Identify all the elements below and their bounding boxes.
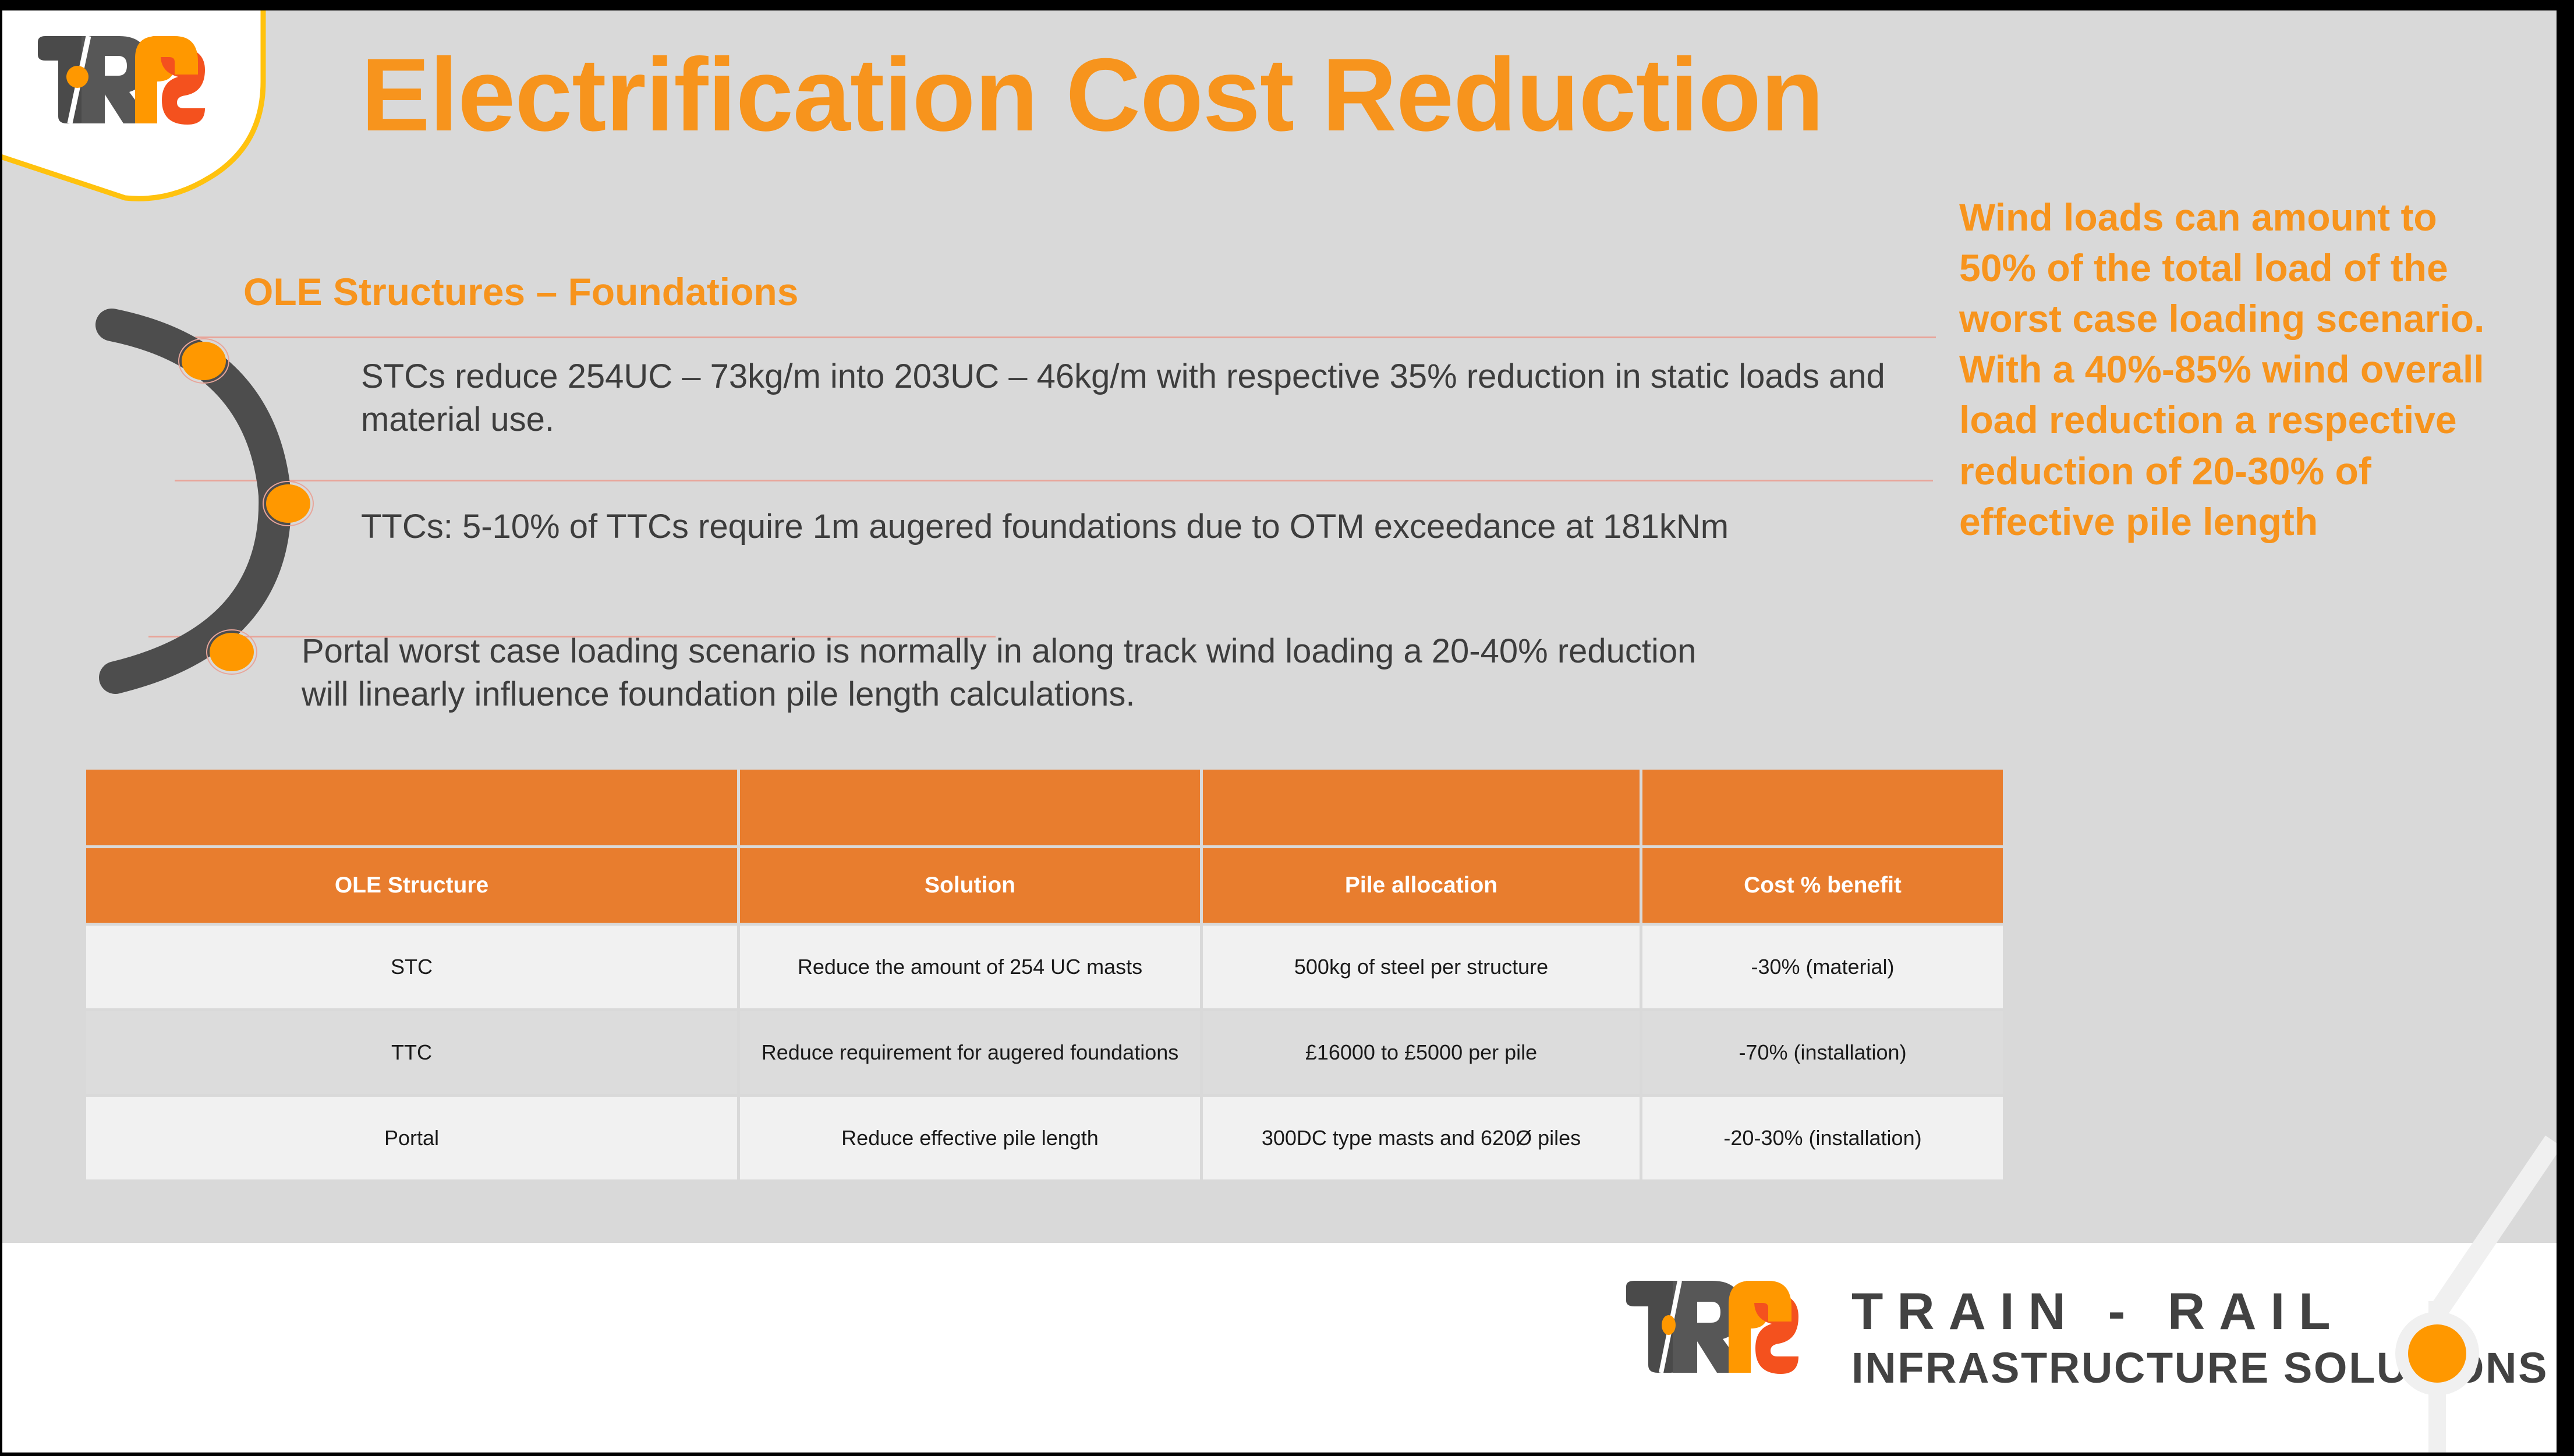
bullet-text-1: STCs reduce 254UC – 73kg/m into 203UC – … [361,355,1933,441]
frame-top [0,0,2574,10]
table-blank-row [86,770,2003,845]
frame-bottom [0,1453,2574,1456]
table-blank-cell [1203,770,1640,845]
table-row: Portal Reduce effective pile length 300D… [86,1097,2003,1179]
table-header-cell: Cost % benefit [1642,848,2003,923]
brand-badge [0,0,274,205]
frame-left [0,0,2,1456]
table-cell: Portal [86,1097,737,1179]
frame-right [2557,0,2574,1456]
table-header-cell: OLE Structure [86,848,737,923]
table-cell: Reduce requirement for augered foundatio… [740,1011,1200,1094]
wind-loads-callout: Wind loads can amount to 50% of the tota… [1959,192,2506,547]
table-blank-cell [1642,770,2003,845]
table-blank-cell [86,770,737,845]
table-blank-cell [740,770,1200,845]
arc-node-2 [266,484,310,523]
footer-logo: TRAIN - RAIL INFRASTRUCTURE SOLUTIONS [1616,1269,2419,1438]
table-row: STC Reduce the amount of 254 UC masts 50… [86,926,2003,1008]
table-header-cell: Pile allocation [1203,848,1640,923]
node-track-graphic [2312,1126,2557,1453]
footer-logo-mark [1616,1275,1831,1429]
table-cell: STC [86,926,737,1008]
table-cell: 300DC type masts and 620Ø piles [1203,1097,1640,1179]
decorative-arc [87,303,332,699]
table-cell: 500kg of steel per structure [1203,926,1640,1008]
table-cell: £16000 to £5000 per pile [1203,1011,1640,1094]
node-dot [2408,1324,2466,1383]
bullet-text-2: TTCs: 5-10% of TTCs require 1m augered f… [361,505,2108,548]
page-title: Electrification Cost Reduction [361,41,1824,150]
table-header-row: OLE Structure Solution Pile allocation C… [86,848,2003,923]
cost-benefit-table: OLE Structure Solution Pile allocation C… [83,767,2006,1182]
table-cell: -70% (installation) [1642,1011,2003,1094]
table-cell: -30% (material) [1642,926,2003,1008]
table-cell: -20-30% (installation) [1642,1097,2003,1179]
table-row: TTC Reduce requirement for augered found… [86,1011,2003,1094]
arc-node-1 [182,342,226,380]
table-cell: Reduce the amount of 254 UC masts [740,926,1200,1008]
table-header-cell: Solution [740,848,1200,923]
connector-line-2 [175,480,1933,481]
slide: Electrification Cost Reduction OLE Struc… [0,0,2574,1456]
connector-line-1 [195,336,1936,338]
bullet-text-3: Portal worst case loading scenario is no… [302,630,1699,716]
arc-node-3 [210,633,254,671]
table-cell: TTC [86,1011,737,1094]
table-cell: Reduce effective pile length [740,1097,1200,1179]
